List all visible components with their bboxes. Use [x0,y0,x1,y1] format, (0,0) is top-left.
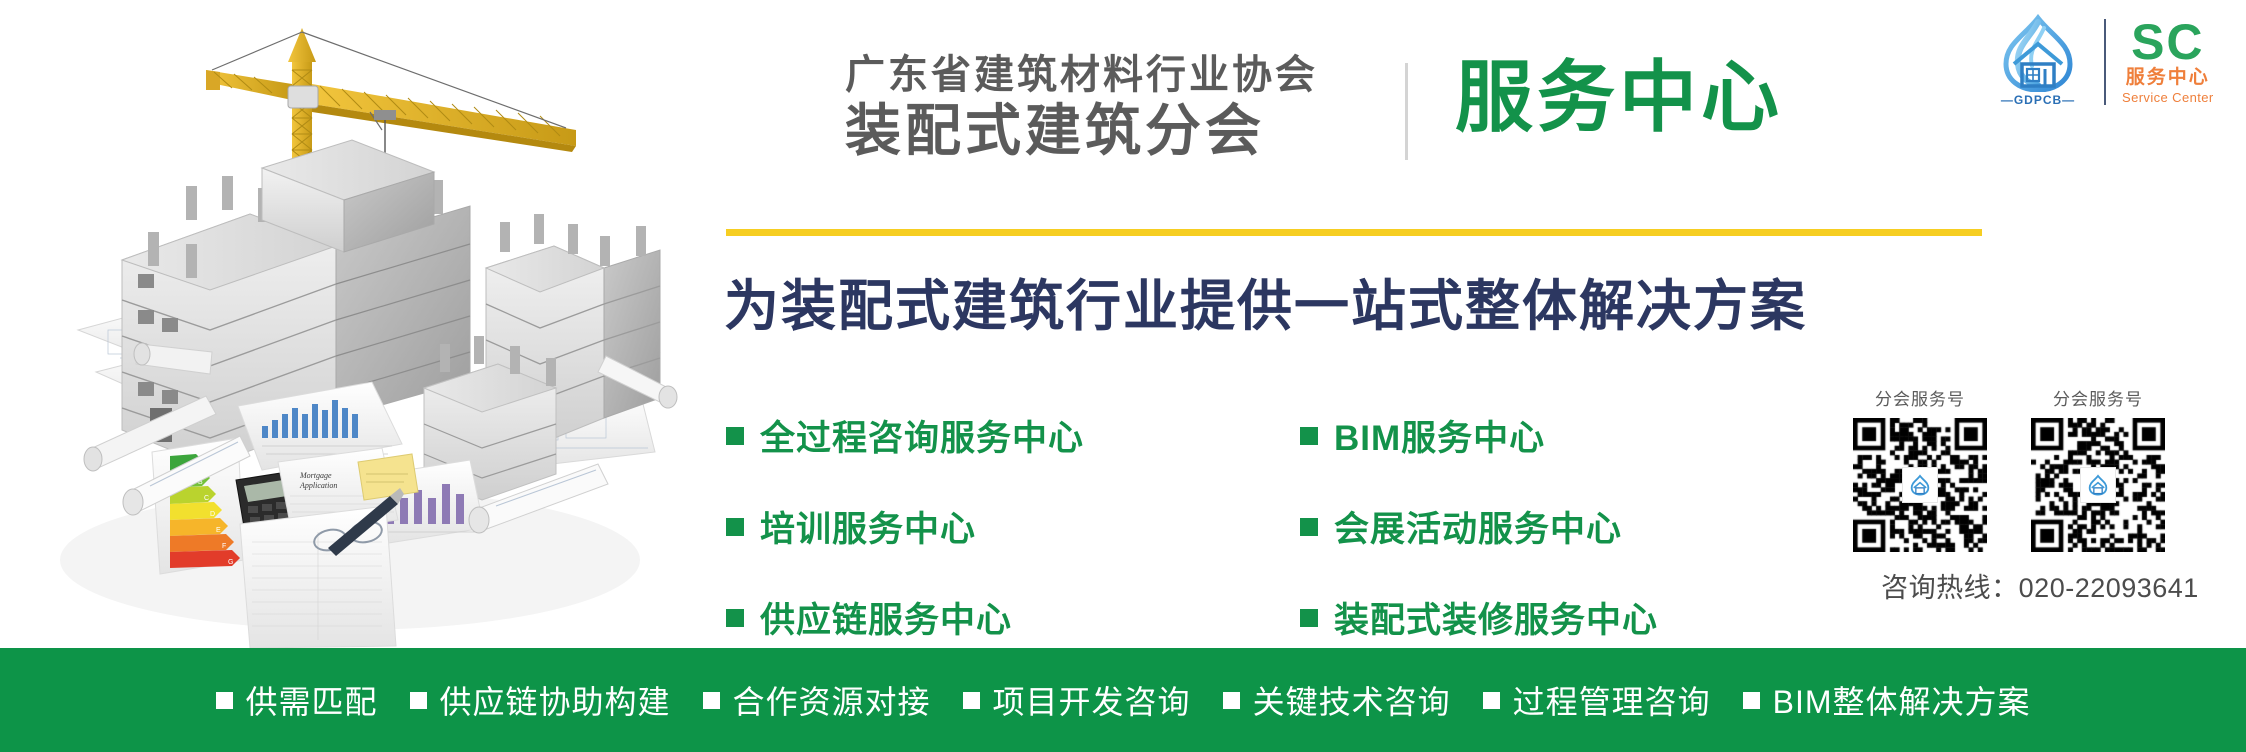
service-item-label: 培训服务中心 [760,501,976,552]
logo-divider [2104,19,2106,105]
svg-text:Application: Application [299,481,337,490]
footer-item-label: 合作资源对接 [733,677,931,723]
svg-text:Mortgage: Mortgage [299,471,332,480]
square-bullet-icon [726,427,744,445]
footer-item-label: 项目开发咨询 [993,677,1191,723]
square-bullet-icon [216,692,233,709]
square-bullet-icon [1483,692,1500,709]
hotline-text: 咨询热线：020-22093641 [1845,566,2235,605]
square-bullet-icon [703,692,720,709]
gdpcb-logo-wordmark: —GDPCB— [1988,93,2088,107]
page-tagline: 为装配式建筑行业提供一站式整体解决方案 [724,261,1807,341]
sticky-note-icon [358,454,418,500]
service-item-label: 会展活动服务中心 [1334,501,1622,552]
gdpcb-logo: —GDPCB— [1988,14,2088,110]
sc-logo-chinese: 服务中心 [2122,66,2214,90]
svg-text:D: D [210,511,215,518]
construction-site-illustration: ABC DEF G [0,0,700,648]
service-item[interactable]: 全过程咨询服务中心 [726,410,1084,461]
construction-site-3d-render: ABC DEF G [0,0,700,648]
mortgage-application-form-icon [240,506,396,648]
gold-divider-rule [726,229,1982,236]
footer-item-label: BIM整体解决方案 [1773,677,2031,723]
square-bullet-icon [1300,518,1318,536]
square-bullet-icon [726,609,744,627]
service-item[interactable]: BIM服务中心 [1300,410,1658,461]
gdpcb-house-flame-icon [2085,474,2111,496]
qr-code-cell: 分会服务号 [2023,385,2173,552]
svg-text:E: E [216,527,221,534]
qr-code-caption: 分会服务号 [1845,385,1995,410]
vertical-divider-icon [1405,63,1408,160]
footer-item[interactable]: BIM整体解决方案 [1743,677,2031,723]
sc-logo: SC 服务中心 Service Center [2122,19,2214,105]
square-bullet-icon [963,692,980,709]
service-item-label: 装配式装修服务中心 [1334,592,1658,643]
svg-text:C: C [204,495,209,502]
footer-item[interactable]: 过程管理咨询 [1483,677,1711,723]
qr-code-icon[interactable] [2031,418,2165,552]
qr-code-icon[interactable] [1853,418,1987,552]
crane-trolley-icon [374,110,396,120]
service-item[interactable]: 会展活动服务中心 [1300,501,1658,552]
footer-item[interactable]: 关键技术咨询 [1223,677,1451,723]
qr-code-row: 分会服务号 分会服务号 [1845,385,2235,552]
gdpcb-house-flame-icon [1907,474,1933,496]
square-bullet-icon [1743,692,1760,709]
footer-item-label: 过程管理咨询 [1513,677,1711,723]
promotional-banner: ABC DEF G [0,0,2246,752]
logo-lockup: —GDPCB— SC 服务中心 Service Center [1988,14,2214,110]
footer-item[interactable]: 合作资源对接 [703,677,931,723]
footer-item-label: 供应链协助构建 [440,677,671,723]
qr-inner-logo [1902,467,1938,503]
service-center-heading: 服务中心 [1455,55,1783,141]
service-item[interactable]: 装配式装修服务中心 [1300,592,1658,643]
service-list-left: 全过程咨询服务中心 培训服务中心 供应链服务中心 [726,410,1084,643]
sc-logo-english: Service Center [2122,90,2214,105]
qr-code-cell: 分会服务号 [1845,385,1995,552]
service-item-label: BIM服务中心 [1334,410,1545,461]
square-bullet-icon [726,518,744,536]
sc-logo-letters: SC [2122,19,2214,67]
service-list-right: BIM服务中心 会展活动服务中心 装配式装修服务中心 [1300,410,1658,643]
service-item[interactable]: 供应链服务中心 [726,592,1084,643]
service-item[interactable]: 培训服务中心 [726,501,1084,552]
footer-item[interactable]: 项目开发咨询 [963,677,1191,723]
svg-text:G: G [228,559,233,566]
qr-code-section: 分会服务号 分会服务号 [1845,385,2235,605]
qr-code-caption: 分会服务号 [2023,385,2173,410]
square-bullet-icon [410,692,427,709]
association-name: 广东省建筑材料行业协会 装配式建筑分会 [845,55,1375,159]
qr-inner-logo [2080,467,2116,503]
service-item-label: 全过程咨询服务中心 [760,410,1084,461]
svg-text:F: F [222,543,226,550]
square-bullet-icon [1300,427,1318,445]
footer-item-label: 供需匹配 [246,677,378,723]
gdpcb-house-flame-icon [1988,14,2088,92]
footer-item[interactable]: 供需匹配 [216,677,378,723]
footer-keyword-bar: 供需匹配 供应链协助构建 合作资源对接 项目开发咨询 关键技术咨询 过程管理咨询… [0,648,2246,752]
footer-item[interactable]: 供应链协助构建 [410,677,671,723]
footer-item-label: 关键技术咨询 [1253,677,1451,723]
square-bullet-icon [1223,692,1240,709]
square-bullet-icon [1300,609,1318,627]
service-item-label: 供应链服务中心 [760,592,1012,643]
association-name-line2: 装配式建筑分会 [845,103,1375,159]
association-name-line1: 广东省建筑材料行业协会 [845,55,1375,95]
